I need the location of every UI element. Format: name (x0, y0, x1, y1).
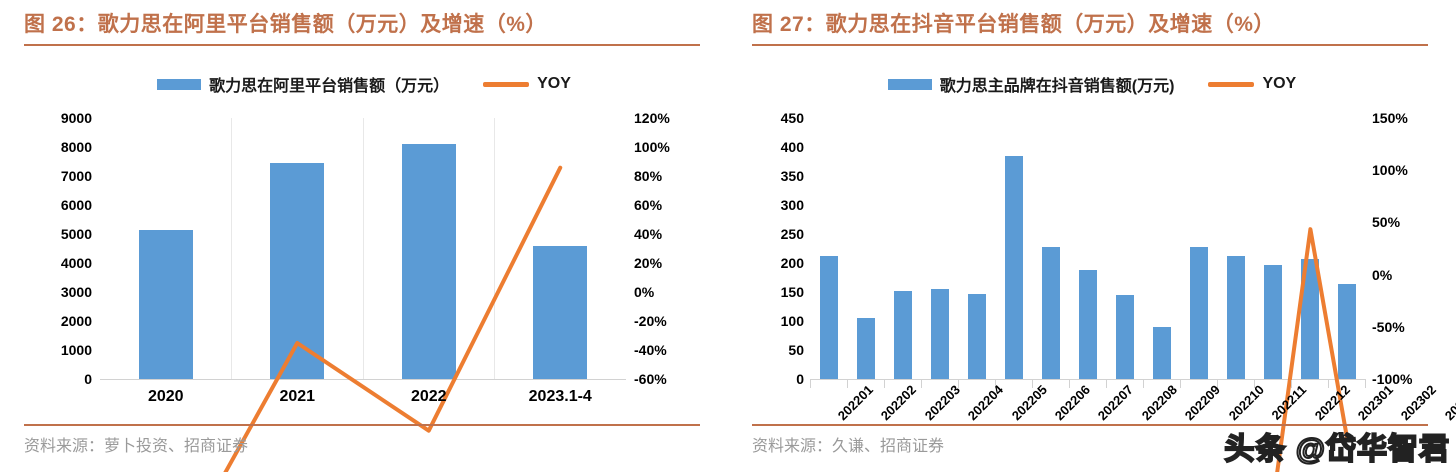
figure-27-legend: 歌力思主品牌在抖音销售额(万元) YOY (728, 72, 1456, 96)
figure-27-y-axis-right: 150%100%50%0%-50%-100% (1372, 118, 1438, 380)
axis-tick-label: -40% (634, 350, 700, 351)
x-axis-label: 2020 (148, 388, 184, 406)
axis-tick-label: 8000 (30, 147, 92, 148)
axis-tick-label: 350 (748, 176, 804, 177)
x-axis-label-cell: 2020 (100, 380, 232, 420)
axis-tick-label: 100% (1372, 170, 1438, 171)
x-tick (1217, 380, 1254, 388)
axis-tick-label: 0 (30, 379, 92, 380)
axis-tick-label: 0 (748, 379, 804, 380)
axis-tick-label: 4000 (30, 263, 92, 264)
axis-tick-label: 5000 (30, 234, 92, 235)
figure-27-title: 图 27：歌力思在抖音平台销售额（万元）及增速（%） (752, 8, 1275, 38)
bar-swatch-icon (888, 79, 932, 90)
legend-item-line: YOY (1208, 75, 1296, 93)
axis-tick-label: 20% (634, 263, 700, 264)
line-swatch-icon (1208, 82, 1254, 87)
figure-26-plot-area: 9000800070006000500040003000200010000 12… (30, 118, 700, 418)
x-axis-label: 2023.1-4 (529, 388, 592, 406)
axis-tick-label: 150 (748, 292, 804, 293)
axis-tick-label: 100% (634, 147, 700, 148)
page-root: 图 26：歌力思在阿里平台销售额（万元）及增速（%） 歌力思在阿里平台销售额（万… (0, 0, 1456, 472)
axis-tick-label: 400 (748, 147, 804, 148)
figure-26-x-axis: 2020202120222023.1-4 (100, 380, 626, 420)
axis-tick-label: 200 (748, 263, 804, 264)
axis-tick-label: 50% (1372, 222, 1438, 223)
axis-tick-label: 1000 (30, 350, 92, 351)
axis-tick-label: 2000 (30, 321, 92, 322)
figure-26-y-axis-right: 120%100%80%60%40%20%0%-20%-40%-60% (634, 118, 700, 380)
axis-tick-label: -60% (634, 379, 700, 380)
axis-tick-label: 40% (634, 234, 700, 235)
axis-tick-label: 0% (1372, 275, 1438, 276)
line-swatch-icon (483, 82, 529, 87)
figure-27-panel: 图 27：歌力思在抖音平台销售额（万元）及增速（%） 歌力思主品牌在抖音销售额(… (728, 0, 1456, 472)
axis-tick-label: 300 (748, 205, 804, 206)
figure-26-panel: 图 26：歌力思在阿里平台销售额（万元）及增速（%） 歌力思在阿里平台销售额（万… (0, 0, 728, 472)
line-path (166, 168, 561, 472)
figure-26-title: 图 26：歌力思在阿里平台销售额（万元）及增速（%） (24, 8, 547, 38)
watermark: 头条 @岱华智君 (1224, 424, 1450, 468)
axis-tick-label: 9000 (30, 118, 92, 119)
figure-27-y-axis-left: 450400350300250200150100500 (748, 118, 804, 380)
axis-tick-label: 7000 (30, 176, 92, 177)
figure-26-title-rule (24, 44, 700, 46)
figure-27-plot (810, 118, 1366, 380)
legend-label-line: YOY (1262, 75, 1296, 93)
x-axis-label-cell: 2021 (232, 380, 364, 420)
legend-item-bar: 歌力思在阿里平台销售额（万元） (157, 72, 449, 96)
x-tick (810, 380, 847, 388)
legend-item-bar: 歌力思主品牌在抖音销售额(万元) (888, 72, 1175, 96)
x-axis-label-cell: 2023.1-4 (495, 380, 627, 420)
axis-tick-label: 0% (634, 292, 700, 293)
axis-tick-label: -50% (1372, 327, 1438, 328)
figure-26-legend: 歌力思在阿里平台销售额（万元） YOY (0, 72, 728, 96)
legend-label-bar: 歌力思在阿里平台销售额（万元） (209, 72, 449, 96)
axis-tick-label: 100 (748, 321, 804, 322)
axis-tick-label: -20% (634, 321, 700, 322)
x-axis-label-cell: 2022 (363, 380, 495, 420)
axis-tick-label: 250 (748, 234, 804, 235)
figure-26-source: 资料来源：萝卜投资、招商证券 (24, 432, 248, 456)
figure-26-plot (100, 118, 626, 380)
axis-tick-label: 120% (634, 118, 700, 119)
axis-tick-label: 6000 (30, 205, 92, 206)
figure-26-y-axis-left: 9000800070006000500040003000200010000 (30, 118, 92, 380)
x-axis-label: 202303 (1441, 382, 1456, 423)
axis-tick-label: 50 (748, 350, 804, 351)
axis-tick-label: 450 (748, 118, 804, 119)
x-axis-label: 2021 (279, 388, 315, 406)
figure-27-title-rule (752, 44, 1428, 46)
x-axis-label: 2022 (411, 388, 447, 406)
legend-label-line: YOY (537, 75, 571, 93)
axis-tick-label: 150% (1372, 118, 1438, 119)
figure-27-source: 资料来源：久谦、招商证券 (752, 432, 944, 456)
bar-swatch-icon (157, 79, 201, 90)
legend-label-bar: 歌力思主品牌在抖音销售额(万元) (940, 72, 1175, 96)
figure-26-footer-rule (24, 424, 700, 426)
figure-27-plot-area: 450400350300250200150100500 150%100%50%0… (748, 118, 1438, 418)
axis-tick-label: 60% (634, 205, 700, 206)
axis-tick-label: 3000 (30, 292, 92, 293)
axis-tick-label: 80% (634, 176, 700, 177)
legend-item-line: YOY (483, 75, 571, 93)
